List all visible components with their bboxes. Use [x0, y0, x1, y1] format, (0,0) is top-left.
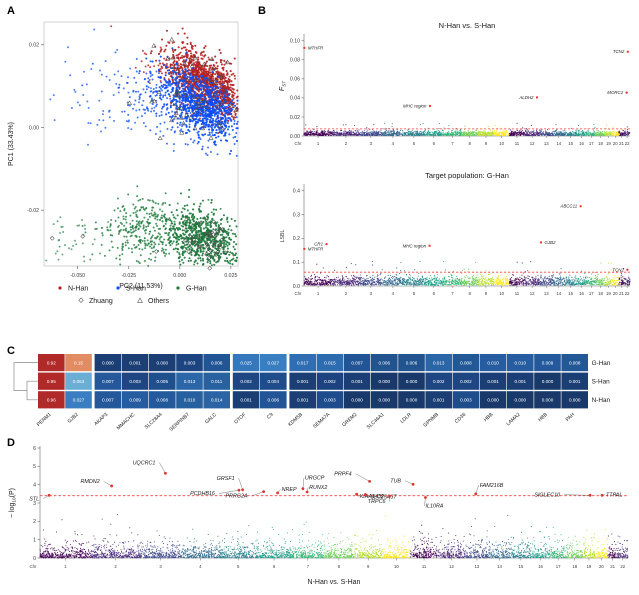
manhattan-point [420, 131, 421, 132]
scatter-point [55, 253, 57, 255]
scatter-point [156, 126, 158, 128]
scatter-point [149, 245, 151, 247]
manhattan-point [463, 131, 464, 132]
y-tick-label: -0.02 [27, 208, 39, 214]
manhattan-point [440, 135, 441, 136]
manhattan-point [397, 135, 398, 136]
scatter-point [147, 81, 149, 83]
scatter-point [160, 50, 162, 52]
manhattan-point [481, 134, 482, 135]
scatter-point [169, 204, 171, 206]
manhattan-point [481, 131, 482, 132]
scatter-point [174, 221, 176, 223]
scatter-point [202, 69, 204, 71]
manhattan-point [309, 134, 310, 135]
scatter-point [235, 225, 237, 227]
manhattan-title: N-Han vs. S-Han [439, 21, 496, 30]
scatter-point [176, 122, 178, 124]
scatter-point [179, 223, 181, 225]
manhattan-point [481, 132, 482, 133]
scatter-point [201, 134, 203, 136]
manhattan-point [329, 133, 330, 134]
manhattan-point [478, 132, 479, 133]
scatter-point [193, 203, 195, 205]
scatter-point [177, 248, 179, 250]
manhattan-point [311, 133, 312, 134]
manhattan-point [377, 134, 378, 135]
scatter-point [195, 87, 197, 89]
scatter-point [181, 253, 183, 255]
scatter-point [210, 76, 212, 78]
scatter-point [231, 99, 233, 101]
manhattan-point [322, 135, 323, 136]
scatter-point [186, 231, 188, 233]
scatter-point [202, 75, 204, 77]
scatter-point [214, 134, 216, 136]
scatter-point [147, 239, 149, 241]
scatter-point [142, 100, 144, 102]
scatter-point [184, 33, 186, 35]
scatter-point [212, 76, 214, 78]
scatter-point [205, 221, 207, 223]
scatter-point [211, 132, 213, 134]
scatter-point [207, 146, 209, 148]
scatter-point [235, 113, 237, 115]
scatter-point [155, 115, 157, 117]
scatter-point [223, 242, 225, 244]
scatter-point [173, 236, 175, 238]
manhattan-point [452, 134, 453, 135]
scatter-point [213, 141, 215, 143]
scatter-point [163, 64, 165, 66]
manhattan-point [364, 130, 365, 131]
scatter-point [181, 259, 183, 261]
scatter-point [223, 249, 225, 251]
scatter-point [211, 264, 213, 266]
manhattan-point [369, 133, 370, 134]
manhattan-point [482, 132, 483, 133]
manhattan-point [397, 132, 398, 133]
panel-b-ylabel: FST [279, 80, 287, 91]
manhattan-point [328, 130, 329, 131]
scatter-point [205, 226, 207, 228]
scatter-point [182, 216, 184, 218]
scatter-point [213, 214, 215, 216]
scatter-point [179, 99, 181, 101]
scatter-point [221, 63, 223, 65]
manhattan-point [489, 132, 490, 133]
scatter-point [165, 87, 167, 89]
scatter-point [147, 64, 149, 66]
scatter-point [93, 29, 95, 31]
scatter-point [153, 110, 155, 112]
manhattan-point [388, 130, 389, 131]
scatter-point [214, 96, 216, 98]
scatter-point [191, 107, 193, 109]
scatter-point [169, 240, 171, 242]
scatter-point [166, 128, 168, 130]
manhattan-point [332, 133, 333, 134]
manhattan-point [464, 133, 465, 134]
scatter-point [133, 77, 135, 79]
manhattan-point [371, 134, 372, 135]
scatter-point [172, 228, 174, 230]
scatter-point [203, 236, 205, 238]
scatter-point [212, 90, 214, 92]
scatter-point [176, 234, 178, 236]
scatter-point [185, 97, 187, 99]
scatter-point [98, 100, 100, 102]
scatter-point [117, 70, 119, 72]
scatter-point [200, 241, 202, 243]
manhattan-point [439, 128, 440, 129]
scatter-point [171, 47, 173, 49]
manhattan-point [461, 135, 462, 136]
scatter-point [151, 50, 153, 52]
manhattan-point [314, 135, 315, 136]
scatter-point [214, 106, 216, 108]
scatter-point [193, 140, 195, 142]
scatter-point [163, 249, 165, 251]
scatter-point [136, 223, 138, 225]
scatter-point [225, 110, 227, 112]
scatter-point [217, 115, 219, 117]
scatter-point [202, 244, 204, 246]
manhattan-point [506, 132, 507, 133]
scatter-point [219, 109, 221, 111]
scatter-point [215, 132, 217, 134]
scatter-point [164, 217, 166, 219]
scatter-point [133, 104, 135, 106]
scatter-point [149, 199, 151, 201]
manhattan-point [337, 132, 338, 133]
scatter-point [186, 204, 188, 206]
scatter-point [117, 217, 119, 219]
scatter-point [234, 143, 236, 145]
scatter-point [221, 106, 223, 108]
manhattan-point [340, 130, 341, 131]
scatter-point [181, 125, 183, 127]
scatter-point [211, 96, 213, 98]
scatter-point [200, 217, 202, 219]
scatter-point [226, 94, 228, 96]
scatter-point [155, 202, 157, 204]
scatter-point [236, 140, 238, 142]
scatter-point [231, 94, 233, 96]
scatter-point [224, 132, 226, 134]
scatter-point [217, 65, 219, 67]
manhattan-point [388, 134, 389, 135]
scatter-point [182, 70, 184, 72]
scatter-point [197, 133, 199, 135]
scatter-point [125, 216, 127, 218]
scatter-point [196, 132, 198, 134]
manhattan-point [495, 134, 496, 135]
manhattan-point [313, 135, 314, 136]
scatter-point [109, 79, 111, 81]
scatter-point [191, 120, 193, 122]
manhattan-point [344, 131, 345, 132]
manhattan-point [382, 135, 383, 136]
scatter-point [192, 69, 194, 71]
scatter-point [196, 218, 198, 220]
scatter-point [204, 86, 206, 88]
scatter-point [162, 135, 164, 137]
scatter-point [214, 73, 216, 75]
scatter-point [130, 229, 132, 231]
scatter-point [202, 80, 204, 82]
manhattan-point [491, 133, 492, 134]
manhattan-point [451, 130, 452, 131]
scatter-point [150, 90, 152, 92]
scatter-point [203, 117, 205, 119]
legend-label-s-han: S-Han [126, 286, 146, 293]
scatter-point [179, 122, 181, 124]
scatter-point [111, 234, 113, 236]
scatter-point [101, 244, 103, 246]
scatter-point [184, 229, 186, 231]
scatter-point [215, 86, 217, 88]
manhattan-point [403, 135, 404, 136]
scatter-point [201, 67, 203, 69]
scatter-point [208, 102, 210, 104]
scatter-point [230, 70, 232, 72]
scatter-point [217, 241, 219, 243]
manhattan-point [457, 130, 458, 131]
manhattan-point [474, 132, 475, 133]
scatter-point [68, 247, 70, 249]
scatter-point [205, 68, 207, 70]
manhattan-point [393, 135, 394, 136]
scatter-point [108, 111, 110, 113]
manhattan-point [354, 134, 355, 135]
scatter-point [150, 87, 152, 89]
scatter-point [210, 113, 212, 115]
scatter-point [210, 226, 212, 228]
manhattan-point [493, 132, 494, 133]
scatter-point [234, 254, 236, 256]
y-tick-label: 0.00 [290, 134, 300, 140]
scatter-point [202, 54, 204, 56]
manhattan-point [313, 133, 314, 134]
manhattan-point [321, 130, 322, 131]
scatter-point [150, 60, 152, 62]
scatter-point [230, 229, 232, 231]
scatter-point [195, 51, 197, 53]
scatter-point [96, 124, 98, 126]
scatter-point [206, 240, 208, 242]
scatter-point [171, 83, 173, 85]
scatter-point [166, 232, 168, 234]
manhattan-point [386, 132, 387, 133]
scatter-point [185, 74, 187, 76]
scatter-point [165, 220, 167, 222]
scatter-point [199, 136, 201, 138]
scatter-point [122, 205, 124, 207]
manhattan-point [373, 132, 374, 133]
manhattan-point [400, 134, 401, 135]
scatter-point [125, 222, 127, 224]
scatter-point [187, 209, 189, 211]
scatter-point [180, 66, 182, 68]
scatter-point [177, 82, 179, 84]
scatter-point [169, 237, 171, 239]
manhattan-point [325, 131, 326, 132]
manhattan-point [393, 131, 394, 132]
manhattan-point [356, 135, 357, 136]
scatter-point [139, 262, 141, 264]
scatter-point [202, 252, 204, 254]
manhattan-point [476, 135, 477, 136]
manhattan-point [334, 132, 335, 133]
scatter-point [180, 63, 182, 65]
scatter-point [187, 107, 189, 109]
scatter-point [179, 101, 181, 103]
scatter-point [204, 79, 206, 81]
scatter-point [167, 41, 169, 43]
scatter-point [212, 239, 214, 241]
scatter-point [87, 122, 89, 124]
scatter-point [228, 81, 230, 83]
scatter-point [154, 217, 156, 219]
scatter-point [172, 70, 174, 72]
scatter-point [165, 227, 167, 229]
scatter-point [148, 222, 150, 224]
scatter-point [142, 198, 144, 200]
scatter-point [167, 234, 169, 236]
manhattan-point [366, 127, 367, 128]
manhattan-point [487, 133, 488, 134]
manhattan-point [374, 135, 375, 136]
scatter-point [155, 60, 157, 62]
manhattan-point [505, 134, 506, 135]
scatter-point [193, 105, 195, 107]
scatter-point [116, 49, 118, 51]
scatter-point [177, 86, 179, 88]
scatter-point [207, 57, 209, 59]
manhattan-point [361, 134, 362, 135]
scatter-point [234, 105, 236, 107]
scatter-point [59, 246, 61, 248]
scatter-point [131, 248, 133, 250]
manhattan-point [470, 133, 471, 134]
scatter-point [188, 217, 190, 219]
scatter-point [193, 102, 195, 104]
manhattan-point [386, 135, 387, 136]
scatter-point [92, 63, 94, 65]
scatter-point [226, 218, 228, 220]
scatter-point [136, 58, 138, 60]
scatter-point [102, 119, 104, 121]
scatter-point [118, 87, 120, 89]
scatter-point [209, 67, 211, 69]
scatter-point [232, 73, 234, 75]
manhattan-point [490, 132, 491, 133]
scatter-point [135, 211, 137, 213]
scatter-point [218, 94, 220, 96]
scatter-point [162, 86, 164, 88]
scatter-point [170, 71, 172, 73]
scatter-point [217, 136, 219, 138]
scatter-point [215, 209, 217, 211]
scatter-point [54, 119, 56, 121]
manhattan-point [442, 133, 443, 134]
scatter-point [143, 226, 145, 228]
scatter-point [155, 84, 157, 86]
ylabel-subscript: ST [282, 80, 287, 87]
scatter-point [191, 48, 193, 50]
manhattan-point [460, 132, 461, 133]
scatter-point [140, 254, 142, 256]
manhattan-point [465, 131, 466, 132]
manhattan-point [325, 135, 326, 136]
scatter-point [142, 240, 144, 242]
manhattan-point [416, 132, 417, 133]
manhattan-point [478, 134, 479, 135]
scatter-point [207, 213, 209, 215]
scatter-point [235, 132, 237, 134]
scatter-point [217, 261, 219, 263]
scatter-point [198, 209, 200, 211]
scatter-point [163, 50, 165, 52]
scatter-point [191, 231, 193, 233]
scatter-point [143, 217, 145, 219]
scatter-point [202, 263, 204, 265]
scatter-point [234, 233, 236, 235]
scatter-point [200, 203, 202, 205]
scatter-point [224, 230, 226, 232]
scatter-point [206, 120, 208, 122]
scatter-point [177, 229, 179, 231]
scatter-point [58, 259, 60, 261]
manhattan-point [417, 135, 418, 136]
manhattan-point [388, 132, 389, 133]
scatter-point [135, 82, 137, 84]
manhattan-point [500, 132, 501, 133]
manhattan-point [397, 133, 398, 134]
manhattan-point [354, 125, 355, 126]
manhattan-point [427, 132, 428, 133]
scatter-point [160, 81, 162, 83]
scatter-point [144, 112, 146, 114]
scatter-point [178, 236, 180, 238]
manhattan-point [382, 128, 383, 129]
scatter-point [151, 209, 153, 211]
scatter-point [129, 96, 131, 98]
scatter-point [161, 67, 163, 69]
scatter-point [202, 94, 204, 96]
scatter-point [167, 219, 169, 221]
manhattan-point [402, 130, 403, 131]
manhattan-point [519, 130, 520, 131]
scatter-point [196, 84, 198, 86]
scatter-point [196, 250, 198, 252]
scatter-point [113, 94, 115, 96]
manhattan-point [310, 132, 311, 133]
scatter-point [212, 73, 214, 75]
scatter-point [123, 209, 125, 211]
manhattan-point [330, 135, 331, 136]
scatter-point [205, 90, 207, 92]
scatter-point [143, 208, 145, 210]
manhattan-point [475, 133, 476, 134]
scatter-point [169, 57, 171, 59]
scatter-point [136, 220, 138, 222]
scatter-point [195, 252, 197, 254]
scatter-point [191, 100, 193, 102]
scatter-point [202, 58, 204, 60]
manhattan-point [438, 134, 439, 135]
